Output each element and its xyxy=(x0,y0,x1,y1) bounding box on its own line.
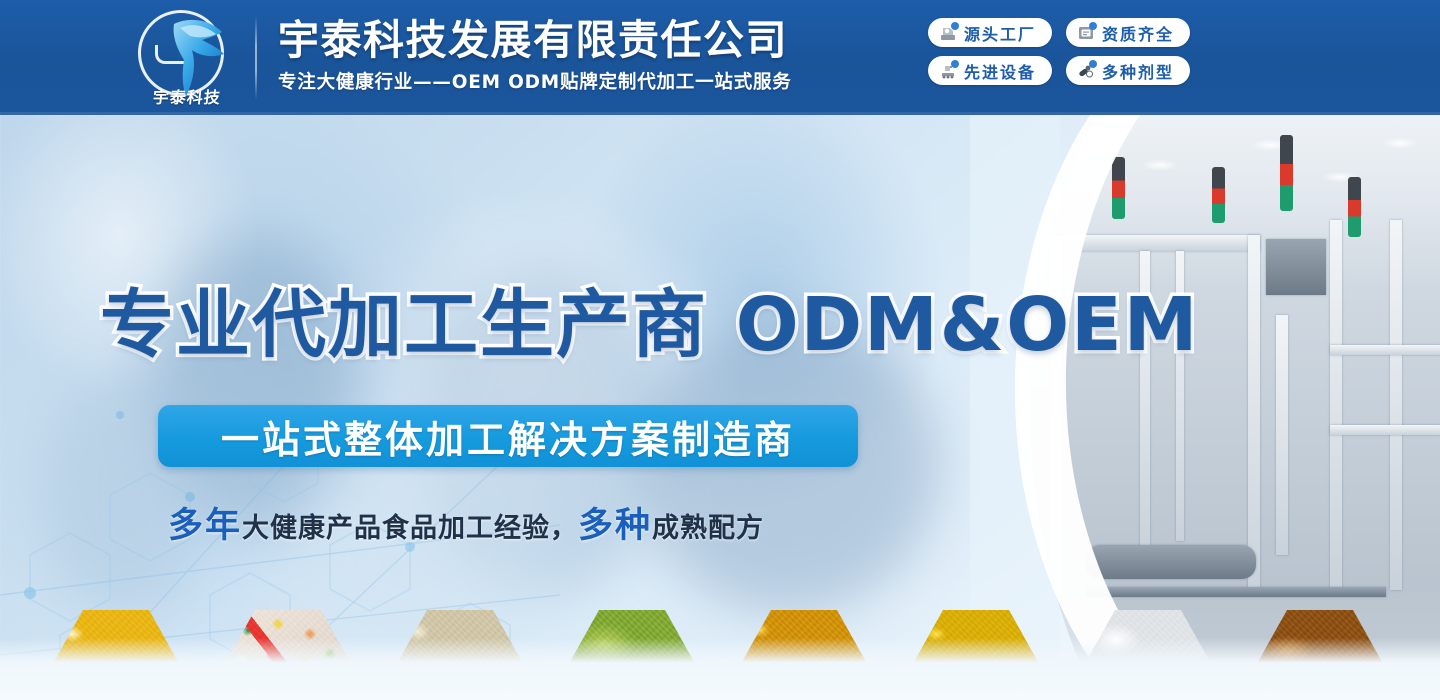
hero-sub-banner-text: 一站式整体加工解决方案制造商 xyxy=(221,409,795,464)
green-powder-image xyxy=(566,610,698,700)
signal-tower xyxy=(1212,167,1225,223)
white-powder-image xyxy=(1082,610,1214,700)
badge-label: 源头工厂 xyxy=(964,21,1036,45)
machine-shelf xyxy=(1330,345,1440,355)
softgel-capsules-image xyxy=(50,610,182,700)
signal-tower xyxy=(1280,135,1293,211)
tagline-text-2: 成熟配方 xyxy=(652,513,764,544)
badge-label: 先进设备 xyxy=(964,59,1036,83)
hero-headline: 专业代加工生产商 ODM&OEM xyxy=(100,283,1199,367)
product-image-hex xyxy=(394,610,526,700)
gummy-candy-image xyxy=(738,610,870,700)
pressed-candy-image xyxy=(394,610,526,700)
machine-frame xyxy=(1330,220,1342,590)
feature-badge-list: 源头工厂 资质齐全 xyxy=(928,18,1278,85)
product-image-hex xyxy=(222,610,354,700)
badge-source-factory[interactable]: 源头工厂 xyxy=(928,18,1052,47)
badge-advanced-equipment[interactable]: 先进设备 xyxy=(928,56,1052,85)
product-tile-hard-capsule[interactable]: 硬胶囊 xyxy=(222,610,354,700)
product-tile-softgel[interactable]: 软胶囊 xyxy=(50,610,182,700)
tagline-highlight-years: 多年 xyxy=(168,506,242,546)
product-image-hex xyxy=(1082,610,1214,700)
product-tile-gummy-candy[interactable]: 凝胶糖果 xyxy=(738,610,870,700)
factory-stamp-icon xyxy=(939,24,957,42)
product-image-hex xyxy=(910,610,1042,700)
machine-roller xyxy=(1086,545,1256,579)
conveyor-machine-icon xyxy=(939,62,957,80)
hero-sub-banner: 一站式整体加工解决方案制造商 xyxy=(158,405,858,467)
badge-multiple-dosage-forms[interactable]: 多种剂型 xyxy=(1066,56,1190,85)
tablets-image xyxy=(910,610,1042,700)
machine-frame xyxy=(1390,220,1402,590)
product-image-hex xyxy=(50,610,182,700)
company-logo[interactable]: 宇泰科技 xyxy=(122,4,248,112)
badge-dot xyxy=(1089,60,1097,68)
logo-brand-text: 宇泰科技 xyxy=(131,84,244,108)
badge-dot xyxy=(951,60,959,68)
certificate-icon xyxy=(1077,24,1095,42)
hero-section: 专业代加工生产商 ODM&OEM 一站式整体加工解决方案制造商 多年大健康产品食… xyxy=(0,115,1440,700)
product-tile-solid-beverage[interactable]: 固体饮料 xyxy=(566,610,698,700)
hard-capsules-image xyxy=(222,610,354,700)
signal-tower xyxy=(1112,157,1125,219)
company-name: 宇泰科技发展有限责任公司 xyxy=(278,14,792,66)
machine-base xyxy=(1086,587,1386,597)
header-divider xyxy=(255,16,257,100)
product-image-hex xyxy=(566,610,698,700)
control-panel xyxy=(1266,239,1326,295)
badge-dot xyxy=(951,22,959,30)
tagline-text-1: 大健康产品食品加工经验， xyxy=(242,513,578,544)
machine-frame xyxy=(1050,235,1260,251)
header-text-block: 宇泰科技发展有限责任公司 专注大健康行业——OEM ODM贴牌定制代加工一站式服… xyxy=(278,14,792,98)
machine-shelf xyxy=(1330,425,1440,435)
machine-frame xyxy=(1276,315,1288,555)
badge-full-qualification[interactable]: 资质齐全 xyxy=(1066,18,1190,47)
company-tagline: 专注大健康行业——OEM ODM贴牌定制代加工一站式服务 xyxy=(278,68,792,98)
product-tile-granule[interactable]: 颗粒剂 xyxy=(1254,610,1386,700)
badge-label: 多种剂型 xyxy=(1102,59,1174,83)
signal-tower xyxy=(1348,177,1361,237)
site-header: 宇泰科技 宇泰科技发展有限责任公司 专注大健康行业——OEM ODM贴牌定制代加… xyxy=(0,0,1440,115)
badge-label: 资质齐全 xyxy=(1102,21,1174,45)
hero-tagline: 多年大健康产品食品加工经验，多种成熟配方 xyxy=(168,497,764,548)
product-image-hex xyxy=(738,610,870,700)
tagline-highlight-variety: 多种 xyxy=(578,506,652,546)
product-tile-tablet[interactable]: 片剂 xyxy=(910,610,1042,700)
promo-banner-page: 宇泰科技 宇泰科技发展有限责任公司 专注大健康行业——OEM ODM贴牌定制代加… xyxy=(0,0,1440,700)
machine-frame xyxy=(1248,235,1260,595)
granules-image xyxy=(1254,610,1386,700)
product-image-hex xyxy=(1254,610,1386,700)
badge-dot xyxy=(1089,22,1097,30)
product-tile-powder[interactable]: 粉剂 xyxy=(1082,610,1214,700)
capsule-pills-icon xyxy=(1077,62,1095,80)
product-tile-pressed-candy[interactable]: 压片糖果 xyxy=(394,610,526,700)
